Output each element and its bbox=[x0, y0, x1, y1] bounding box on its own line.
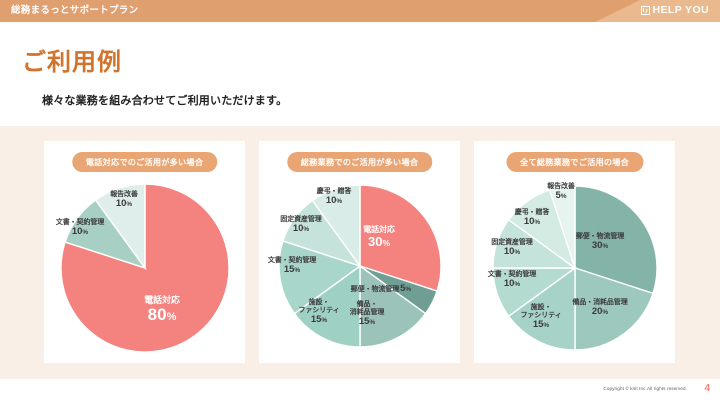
helpyou-mark-icon bbox=[641, 6, 650, 15]
brand-logo-text: HELP YOU bbox=[653, 4, 710, 16]
chart-card-chip: 電話対応でのご活用が多い場合 bbox=[72, 152, 217, 172]
page-title: ご利用例 bbox=[22, 42, 122, 77]
pie-chart: 電話対応80%文書・契約管理10%報告改善10% bbox=[44, 171, 245, 361]
top-header-bar: 総務まるっとサポートプラン HELP YOU bbox=[0, 0, 720, 22]
footer-bar bbox=[0, 379, 720, 405]
chart-card: 全て総務業務でご活用の場合 郵便・物流管理30%備品・消耗品管理20%施設・ファ… bbox=[474, 141, 675, 363]
page-subtitle: 様々な業務を組み合わせてご利用いただけます。 bbox=[42, 92, 287, 108]
header-title: 総務まるっとサポートプラン bbox=[11, 4, 138, 18]
copyright-text: Copyright © knit Inc.All rights reserved… bbox=[603, 386, 687, 391]
pie-chart: 郵便・物流管理30%備品・消耗品管理20%施設・ファシリティ15%文書・契約管理… bbox=[474, 171, 675, 361]
chart-card-chip: 総務業務でのご活用が多い場合 bbox=[287, 152, 432, 172]
chart-card-chip: 全て総務業務でご活用の場合 bbox=[506, 152, 643, 172]
pie-chart: 電話対応30%郵便・物流管理5%備品・消耗品管理15%施設・ファシリティ15%文… bbox=[259, 171, 460, 361]
brand-logo: HELP YOU bbox=[641, 4, 710, 16]
chart-card: 電話対応でのご活用が多い場合 電話対応80%文書・契約管理10%報告改善10% bbox=[44, 141, 245, 363]
page-number: 4 bbox=[704, 383, 710, 394]
chart-card: 総務業務でのご活用が多い場合 電話対応30%郵便・物流管理5%備品・消耗品管理1… bbox=[259, 141, 460, 363]
